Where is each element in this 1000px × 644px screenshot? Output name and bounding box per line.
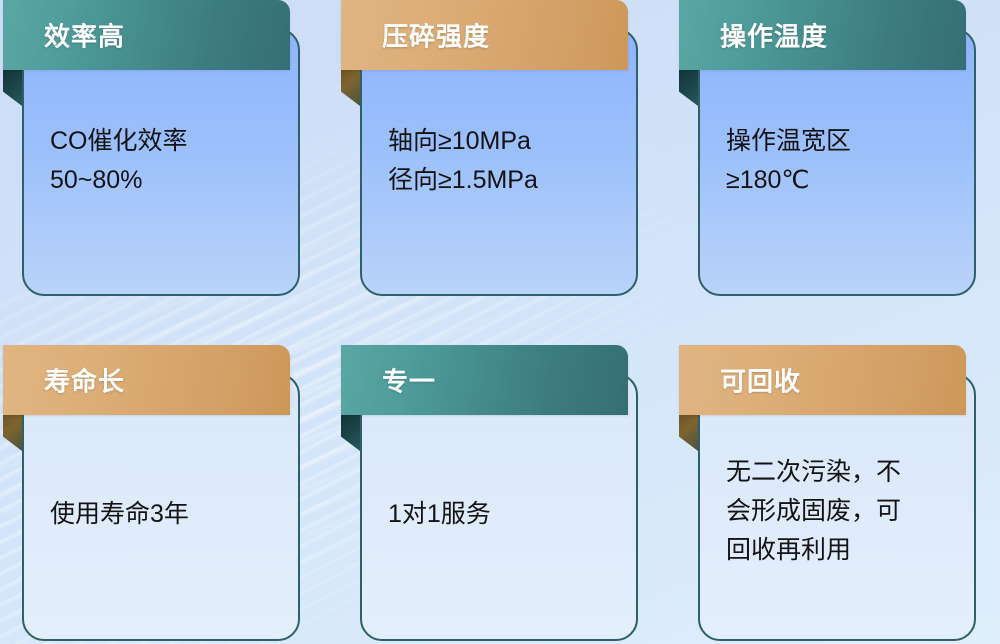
card-banner: 可回收 (679, 345, 966, 415)
card-text: 轴向≥10MPa 径向≥1.5MPa (362, 122, 636, 200)
card-title: 专一 (382, 362, 436, 399)
card-text-line: 使用寿命3年 (50, 495, 272, 534)
card-banner: 寿命长 (3, 345, 290, 415)
feature-card-board: CO催化效率 50~80% 效率高 轴向≥10MPa 径向≥1.5MPa 压碎强… (0, 0, 1000, 644)
card-text-line: 50~80% (50, 161, 272, 200)
card-text-line: ≥180℃ (726, 161, 948, 200)
card-text-line: 轴向≥10MPa (388, 122, 610, 161)
card-title: 操作温度 (720, 17, 828, 54)
card-text-line: 操作温宽区 (726, 122, 948, 161)
card-text: 1对1服务 (362, 495, 636, 534)
card-title: 压碎强度 (382, 17, 490, 54)
card-title: 寿命长 (44, 362, 125, 399)
card-text: 使用寿命3年 (24, 495, 298, 534)
ribbon-fold-icon (341, 415, 360, 451)
card-title: 可回收 (720, 362, 801, 399)
ribbon-fold-icon (341, 70, 360, 106)
card-banner: 效率高 (3, 0, 290, 70)
card-banner: 压碎强度 (341, 0, 628, 70)
ribbon-fold-icon (3, 415, 22, 451)
card-text: CO催化效率 50~80% (24, 122, 298, 200)
card-text-line: 无二次污染，不 (726, 453, 948, 492)
card-text-line: 1对1服务 (388, 495, 610, 534)
card-text-line: 会形成固废，可 (726, 492, 948, 531)
ribbon-fold-icon (679, 415, 698, 451)
card-text: 无二次污染，不 会形成固废，可 回收再利用 (700, 453, 974, 570)
card-banner: 操作温度 (679, 0, 966, 70)
ribbon-fold-icon (679, 70, 698, 106)
card-banner: 专一 (341, 345, 628, 415)
card-text-line: CO催化效率 (50, 122, 272, 161)
card-title: 效率高 (44, 17, 125, 54)
card-text-line: 径向≥1.5MPa (388, 161, 610, 200)
card-text: 操作温宽区 ≥180℃ (700, 122, 974, 200)
card-text-line: 回收再利用 (726, 531, 948, 570)
ribbon-fold-icon (3, 70, 22, 106)
